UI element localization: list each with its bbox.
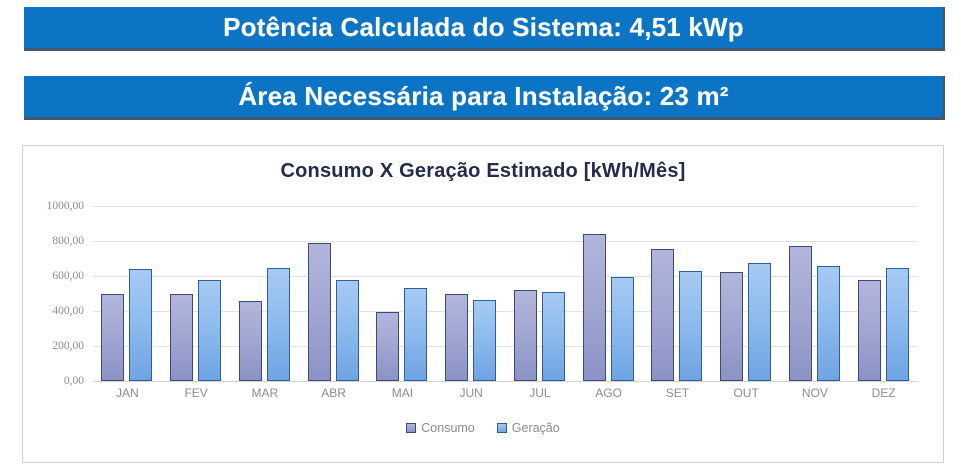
bar-group-mai — [368, 206, 437, 381]
x-axis-label-jun: JUN — [437, 386, 506, 400]
chart-legend: Consumo Geração — [23, 421, 943, 435]
x-axis-label-fev: FEV — [162, 386, 231, 400]
bar-consumo-fev[interactable] — [170, 294, 193, 381]
y-axis-label-800: 800,00 — [52, 235, 84, 247]
bar-consumo-jan[interactable] — [101, 294, 124, 381]
bar-geracao-fev[interactable] — [198, 280, 221, 381]
bar-consumo-mar[interactable] — [239, 301, 262, 381]
x-axis-label-out: OUT — [712, 386, 781, 400]
chart-bar-groups — [93, 206, 918, 381]
x-axis-label-mai: MAI — [368, 386, 437, 400]
x-axis-label-abr: ABR — [299, 386, 368, 400]
y-axis-label-400: 400,00 — [52, 305, 84, 317]
banner-required-area-text: Área Necessária para Instalação: 23 m² — [238, 81, 728, 112]
bar-consumo-mai[interactable] — [376, 312, 399, 381]
legend-swatch-geracao-icon — [497, 423, 507, 433]
y-axis-label-200: 200,00 — [52, 340, 84, 352]
y-axis-label-0: 0,00 — [64, 375, 84, 387]
bar-group-out — [712, 206, 781, 381]
bar-group-set — [643, 206, 712, 381]
bar-group-nov — [781, 206, 850, 381]
legend-item-geracao[interactable]: Geração — [497, 421, 560, 435]
bar-group-dez — [849, 206, 918, 381]
y-axis-label-600: 600,00 — [52, 270, 84, 282]
chart-x-axis-labels: JANFEVMARABRMAIJUNJULAGOSETOUTNOVDEZ — [93, 386, 918, 400]
bar-consumo-jun[interactable] — [445, 294, 468, 381]
legend-label-geracao: Geração — [512, 421, 560, 435]
banner-calculated-power-text: Potência Calculada do Sistema: 4,51 kWp — [223, 12, 744, 43]
x-axis-label-mar: MAR — [231, 386, 300, 400]
gridline-0 — [93, 381, 918, 382]
bar-geracao-dez[interactable] — [886, 268, 909, 381]
bar-consumo-out[interactable] — [720, 272, 743, 381]
x-axis-label-set: SET — [643, 386, 712, 400]
x-axis-label-ago: AGO — [574, 386, 643, 400]
bar-consumo-set[interactable] — [651, 249, 674, 381]
bar-group-ago — [574, 206, 643, 381]
chart-card: Consumo X Geração Estimado [kWh/Mês] 100… — [22, 145, 944, 463]
x-axis-label-jul: JUL — [506, 386, 575, 400]
bar-consumo-ago[interactable] — [583, 234, 606, 381]
x-axis-label-dez: DEZ — [849, 386, 918, 400]
bar-group-jan — [93, 206, 162, 381]
bar-consumo-jul[interactable] — [514, 290, 537, 381]
bar-group-jul — [506, 206, 575, 381]
bar-group-fev — [162, 206, 231, 381]
legend-item-consumo[interactable]: Consumo — [406, 421, 475, 435]
legend-swatch-consumo-icon — [406, 423, 416, 433]
bar-geracao-jan[interactable] — [129, 269, 152, 381]
bar-consumo-nov[interactable] — [789, 246, 812, 381]
y-axis-label-1000: 1000,00 — [47, 200, 84, 212]
bar-geracao-set[interactable] — [679, 271, 702, 381]
bar-group-mar — [231, 206, 300, 381]
x-axis-label-jan: JAN — [93, 386, 162, 400]
bar-geracao-jul[interactable] — [542, 292, 565, 381]
bar-group-abr — [299, 206, 368, 381]
bar-consumo-dez[interactable] — [858, 280, 881, 381]
bar-consumo-abr[interactable] — [308, 243, 331, 381]
banner-calculated-power: Potência Calculada do Sistema: 4,51 kWp — [24, 7, 945, 51]
bar-geracao-out[interactable] — [748, 263, 771, 381]
chart-plot-area: 1000,00800,00600,00400,00200,000,00 — [93, 206, 918, 381]
banner-required-area: Área Necessária para Instalação: 23 m² — [24, 76, 945, 120]
bar-geracao-ago[interactable] — [611, 277, 634, 381]
chart-title: Consumo X Geração Estimado [kWh/Mês] — [23, 160, 943, 183]
bar-geracao-mar[interactable] — [267, 268, 290, 381]
bar-geracao-jun[interactable] — [473, 300, 496, 381]
bar-group-jun — [437, 206, 506, 381]
bar-geracao-abr[interactable] — [336, 280, 359, 381]
legend-label-consumo: Consumo — [421, 421, 475, 435]
bar-geracao-mai[interactable] — [404, 288, 427, 381]
bar-geracao-nov[interactable] — [817, 266, 840, 381]
solar-report-page: Potência Calculada do Sistema: 4,51 kWp … — [0, 0, 965, 475]
x-axis-label-nov: NOV — [781, 386, 850, 400]
